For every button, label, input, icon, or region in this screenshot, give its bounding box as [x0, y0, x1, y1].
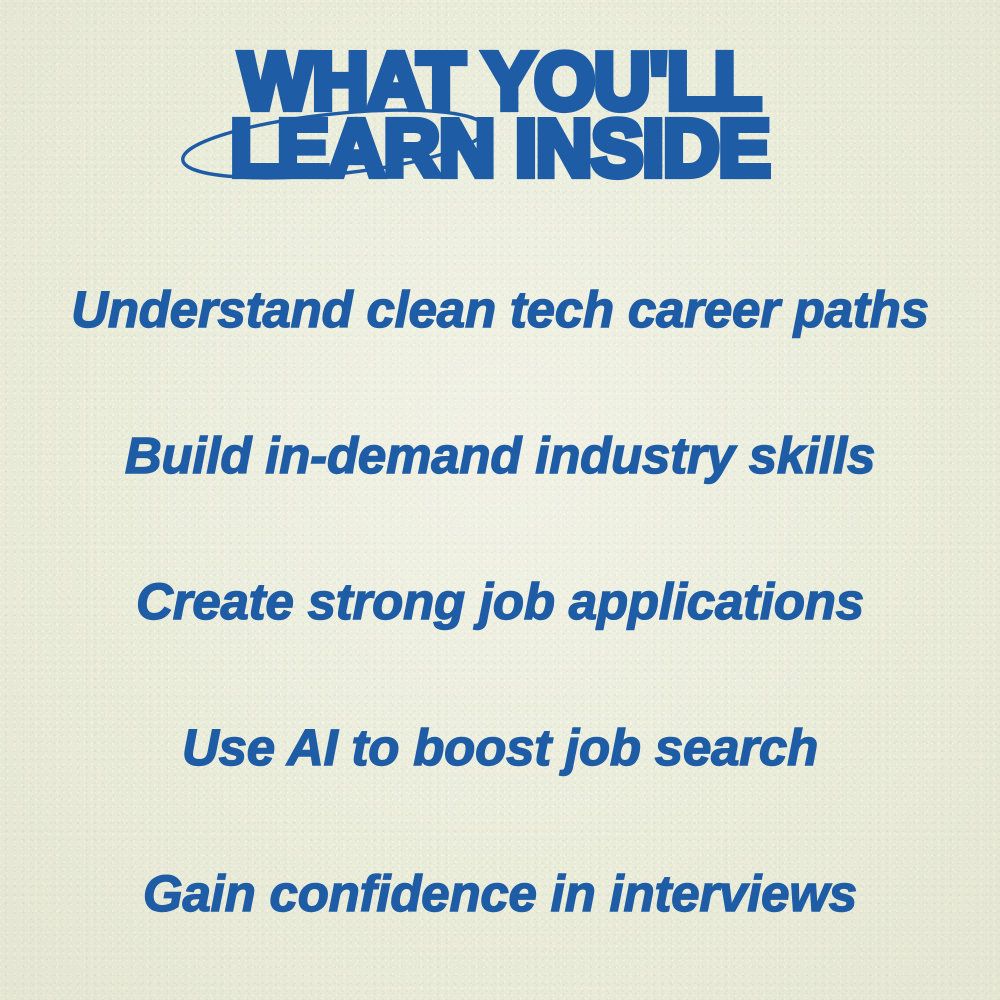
- list-item: Create strong job applications: [0, 528, 1000, 674]
- list-item: Gain confidence in interviews: [0, 820, 1000, 966]
- list-item: Understand clean tech career paths: [0, 236, 1000, 382]
- benefit-text-5: Gain confidence in interviews: [143, 868, 857, 919]
- list-item: Use AI to boost job search: [0, 674, 1000, 820]
- promo-poster: WHAT YOU'LL LEARN INSIDE Understand clea…: [0, 0, 1000, 1000]
- benefit-text-3: Create strong job applications: [136, 576, 864, 627]
- headline: WHAT YOU'LL LEARN INSIDE: [0, 44, 1000, 185]
- benefits-list: Understand clean tech career paths Build…: [0, 236, 1000, 966]
- benefit-text-1: Understand clean tech career paths: [71, 284, 929, 335]
- benefit-text-4: Use AI to boost job search: [182, 722, 818, 773]
- benefit-text-2: Build in-demand industry skills: [125, 430, 875, 481]
- list-item: Build in-demand industry skills: [0, 382, 1000, 528]
- headline-line-2: LEARN INSIDE: [0, 111, 1000, 186]
